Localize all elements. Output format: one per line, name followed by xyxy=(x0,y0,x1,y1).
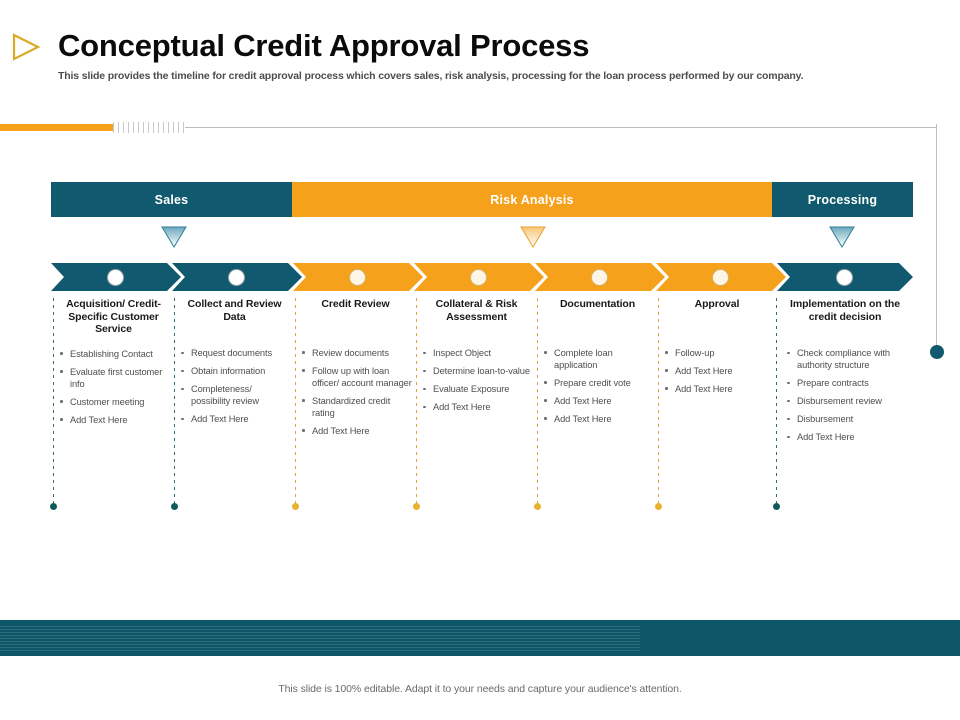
phase-bar-sales[interactable]: Sales xyxy=(51,182,292,217)
divider-line xyxy=(185,127,937,128)
title-row: Conceptual Credit Approval Process xyxy=(0,14,960,62)
column-bullet-list: Follow-up Add Text Here Add Text Here xyxy=(662,347,772,395)
list-item: Prepare contracts xyxy=(784,377,906,389)
page-title: Conceptual Credit Approval Process xyxy=(58,28,589,64)
column-heading: Acquisition/ Credit-Specific Customer Se… xyxy=(57,298,170,336)
column-collect-review-data: Collect and Review Data Request document… xyxy=(178,298,291,431)
list-item: Add Text Here xyxy=(541,395,654,407)
list-item: Add Text Here xyxy=(420,401,533,413)
list-item: Customer meeting xyxy=(57,396,170,408)
list-item: Obtain information xyxy=(178,365,291,377)
node-marker-6 xyxy=(712,269,729,286)
chevron-band xyxy=(51,263,913,291)
node-marker-3 xyxy=(349,269,366,286)
column-bullet-list: Review documents Follow up with loan off… xyxy=(299,347,412,437)
divider-accent-bar xyxy=(0,124,113,131)
page-subtitle: This slide provides the timeline for cre… xyxy=(58,70,938,82)
list-item: Standardized credit rating xyxy=(299,395,412,419)
phase-bar-risk-analysis[interactable]: Risk Analysis xyxy=(292,182,772,217)
footer-note: This slide is 100% editable. Adapt it to… xyxy=(0,683,960,695)
list-item: Prepare credit vote xyxy=(541,377,654,389)
list-item: Review documents xyxy=(299,347,412,359)
column-heading: Documentation xyxy=(541,298,654,311)
column-bullet-list: Request documents Obtain information Com… xyxy=(178,347,291,425)
column-approval: Approval Follow-up Add Text Here Add Tex… xyxy=(662,298,772,401)
column-bullet-list: Check compliance with authority structur… xyxy=(784,347,906,443)
column-documentation: Documentation Complete loan application … xyxy=(541,298,654,431)
slide-canvas: Conceptual Credit Approval Process This … xyxy=(0,0,960,720)
list-item: Evaluate Exposure xyxy=(420,383,533,395)
list-item: Establishing Contact xyxy=(57,348,170,360)
list-item: Determine loan-to-value xyxy=(420,365,533,377)
node-marker-2 xyxy=(228,269,245,286)
column-heading: Collateral & Risk Assessment xyxy=(420,298,533,323)
list-item: Add Text Here xyxy=(662,365,772,377)
list-item: Inspect Object xyxy=(420,347,533,359)
column-implementation: Implementation on the credit decision Ch… xyxy=(784,298,906,449)
list-item: Add Text Here xyxy=(784,431,906,443)
node-marker-5 xyxy=(591,269,608,286)
header-divider xyxy=(0,122,960,132)
phase-bar-processing[interactable]: Processing xyxy=(772,182,913,217)
column-acquisition: Acquisition/ Credit-Specific Customer Se… xyxy=(57,298,170,432)
list-item: Add Text Here xyxy=(178,413,291,425)
list-item: Add Text Here xyxy=(57,414,170,426)
list-item: Add Text Here xyxy=(662,383,772,395)
list-item: Check compliance with authority structur… xyxy=(784,347,906,371)
node-marker-7 xyxy=(836,269,853,286)
list-item: Disbursement xyxy=(784,413,906,425)
list-item: Complete loan application xyxy=(541,347,654,371)
column-heading: Implementation on the credit decision xyxy=(784,298,906,323)
list-item: Add Text Here xyxy=(541,413,654,425)
node-marker-1 xyxy=(107,269,124,286)
divider-hatch xyxy=(113,122,185,133)
list-item: Request documents xyxy=(178,347,291,359)
column-bullet-list: Establishing Contact Evaluate first cust… xyxy=(57,348,170,426)
column-collateral-risk-assessment: Collateral & Risk Assessment Inspect Obj… xyxy=(420,298,533,419)
column-heading: Collect and Review Data xyxy=(178,298,291,323)
columns-region: Acquisition/ Credit-Specific Customer Se… xyxy=(0,298,960,513)
footer-stripe-pattern xyxy=(0,626,640,652)
list-item: Follow up with loan officer/ account man… xyxy=(299,365,412,389)
list-item: Disbursement review xyxy=(784,395,906,407)
list-item: Follow-up xyxy=(662,347,772,359)
node-marker-4 xyxy=(470,269,487,286)
column-bullet-list: Inspect Object Determine loan-to-value E… xyxy=(420,347,533,413)
list-item: Add Text Here xyxy=(299,425,412,437)
list-item: Evaluate first customer info xyxy=(57,366,170,390)
column-credit-review: Credit Review Review documents Follow up… xyxy=(299,298,412,443)
column-heading: Credit Review xyxy=(299,298,412,311)
column-heading: Approval xyxy=(662,298,772,311)
list-item: Completeness/ possibility review xyxy=(178,383,291,407)
column-bullet-list: Complete loan application Prepare credit… xyxy=(541,347,654,425)
